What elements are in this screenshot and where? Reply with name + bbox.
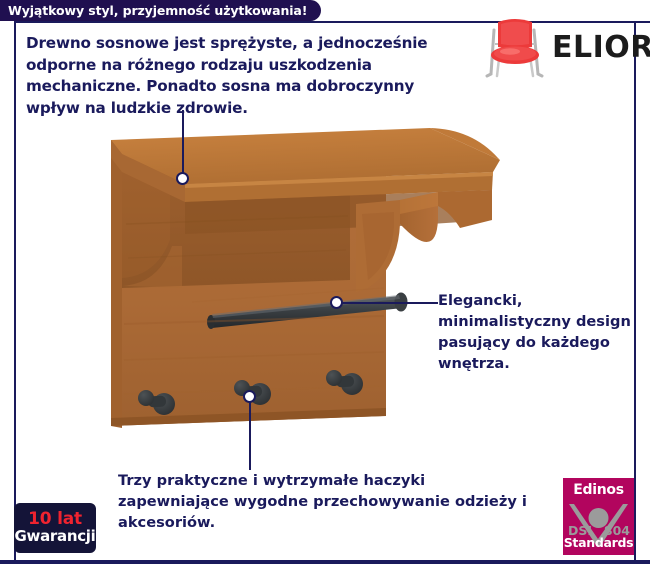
promo-page: Wyjątkowy styl, przyjemność użytkowania!… — [0, 0, 650, 564]
red-chair-icon — [484, 14, 546, 80]
certification-badge: Edinos DSI 804 Standards — [563, 478, 634, 555]
headline-banner-text: Wyjątkowy styl, przyjemność użytkowania! — [8, 3, 307, 18]
callout-wood-dot — [176, 172, 189, 185]
callout-design-leader — [338, 302, 438, 304]
callout-design-text: Elegancki, minimalistyczny design pasują… — [438, 291, 638, 374]
callout-hooks-leader — [249, 396, 251, 470]
brand-logo: ELIOR — [484, 14, 644, 80]
frame-border-left — [14, 21, 16, 562]
brand-wordmark: ELIOR — [552, 30, 650, 65]
certification-name: Edinos — [563, 482, 634, 498]
frame-border-bottom — [0, 560, 650, 564]
callout-hooks-text: Trzy praktyczne i wytrzymałe haczyki zap… — [118, 470, 538, 533]
headline-banner: Wyjątkowy styl, przyjemność użytkowania! — [0, 0, 321, 21]
certification-label: Standards — [563, 535, 634, 550]
product-illustration — [100, 128, 510, 438]
lead-paragraph: Drewno sosnowe jest sprężyste, a jednocz… — [26, 33, 446, 119]
warranty-label: Gwarancji — [15, 529, 96, 545]
callout-design-dot — [330, 296, 343, 309]
warranty-badge: 10 lat Gwarancji — [14, 503, 96, 553]
callout-hooks-dot — [243, 390, 256, 403]
callout-wood-leader — [182, 110, 184, 178]
